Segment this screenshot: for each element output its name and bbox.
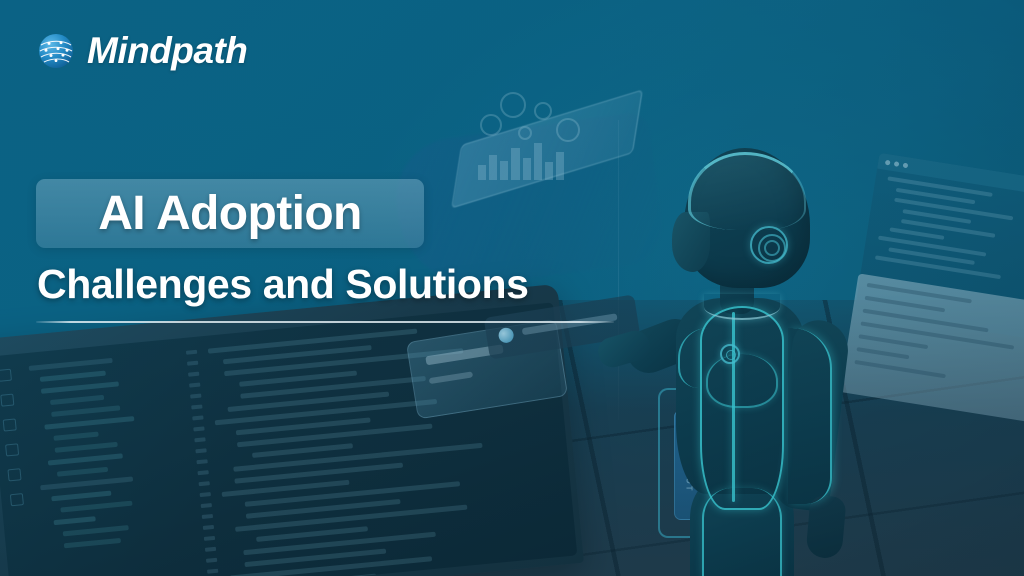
chip-label-line: [522, 313, 618, 335]
network-icon: [556, 118, 580, 142]
node-icon: [518, 126, 532, 140]
title-divider: [36, 321, 614, 323]
robot-head-cap: [688, 152, 806, 230]
page-subtitle: Challenges and Solutions: [37, 264, 529, 305]
title-highlight-box: AI Adoption: [36, 179, 424, 248]
files-icon: [0, 369, 11, 382]
gear-icon: [534, 102, 552, 120]
suit-glow-chest-curve: [706, 354, 778, 408]
spiral-ear-icon: [750, 226, 788, 264]
suit-glow-outline: [700, 306, 784, 510]
gear-icon: [480, 114, 502, 136]
status-dot-icon: [498, 327, 515, 344]
slide-root: AI ROBOT: [0, 0, 1024, 576]
circle-emblem-icon: [720, 344, 740, 364]
debug-icon: [5, 443, 19, 456]
card-body-line: [429, 371, 473, 384]
search-icon: [0, 394, 14, 407]
brand-name: Mindpath: [87, 30, 247, 72]
bar-chart-icon: [478, 140, 564, 180]
robot-collar: [704, 294, 780, 320]
gear-icon: [9, 493, 23, 506]
robot-right-hand: [805, 495, 846, 560]
suit-glow-leg-lines: [702, 488, 782, 576]
suit-glow-arm-line: [788, 328, 832, 504]
editor-file-tree: [17, 339, 201, 576]
hologram-cluster: [452, 92, 622, 182]
brand-logo[interactable]: Mindpath: [36, 30, 247, 72]
extensions-icon: [7, 468, 21, 481]
page-title: AI Adoption: [98, 190, 362, 238]
gear-icon: [500, 92, 526, 118]
globe-network-icon: [36, 31, 76, 71]
android-robot: AI ROBOT: [612, 148, 942, 576]
source-control-icon: [2, 418, 16, 431]
